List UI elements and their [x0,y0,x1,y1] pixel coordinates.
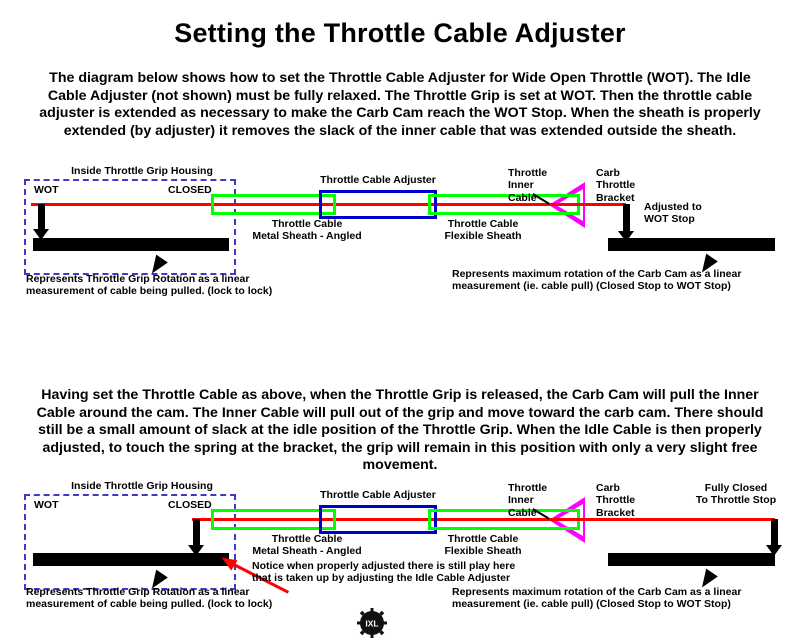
wot-stop-arrow-icon [618,204,634,242]
metal-sheath-label: Throttle Cable Metal Sheath - Angled [232,218,382,243]
closed-label: CLOSED [168,184,212,196]
fully-closed-label: Fully Closed To Throttle Stop [676,482,796,507]
inner-cable-line-to-stop [549,518,775,521]
second-paragraph: Having set the Throttle Cable as above, … [28,387,772,475]
closed-label-2: CLOSED [168,499,212,511]
metal-sheath-outline [211,194,336,215]
wot-label: WOT [34,184,59,196]
grip-rotation-bar [33,238,229,251]
grip-rotation-bar-2 [33,553,229,566]
carb-cam-rotation-bar [608,238,775,251]
grip-pull-arrow-icon [33,204,49,240]
intro-paragraph: The diagram below shows how to set the T… [28,70,772,140]
inner-cable-line-at-bracket [549,203,626,206]
wot-stop-label: Adjusted to WOT Stop [644,201,702,226]
carb-cam-rotation-bar-2 [608,553,775,566]
metal-sheath-outline-2 [211,509,336,530]
throttle-stop-arrow-icon [766,519,782,556]
flexible-sheath-label: Throttle Cable Flexible Sheath [408,218,558,243]
metal-sheath-label-2: Throttle Cable Metal Sheath - Angled [232,533,382,558]
watermark-logo: IXL [357,608,387,638]
diagram-idle-released: Inside Throttle Grip Housing WOT CLOSED … [0,480,800,644]
wot-label-2: WOT [34,499,59,511]
notice-play-label: Notice when properly adjusted there is s… [252,560,515,585]
carb-bracket-label: Carb Throttle Bracket [596,167,635,204]
carb-bracket-label-2: Carb Throttle Bracket [596,482,635,519]
page-title: Setting the Throttle Cable Adjuster [0,18,800,49]
throttle-cable-adjuster-box [319,190,437,219]
watermark-text: IXL [365,619,378,629]
diagram-wot-setting: Inside Throttle Grip Housing WOT CLOSED … [0,160,800,310]
throttle-cable-adjuster-box-2 [319,505,437,534]
carb-cam-caption: Represents maximum rotation of the Carb … [452,268,741,293]
housing-label: Inside Throttle Grip Housing [24,165,260,177]
adjuster-label-2: Throttle Cable Adjuster [318,489,438,501]
adjuster-label: Throttle Cable Adjuster [318,174,438,186]
diagram-page: Setting the Throttle Cable Adjuster The … [0,0,800,644]
flexible-sheath-label-2: Throttle Cable Flexible Sheath [408,533,558,558]
carb-cam-caption-2: Represents maximum rotation of the Carb … [452,586,741,611]
grip-released-arrow-icon [188,519,204,556]
grip-rotation-caption-2: Represents Throttle Grip Rotation as a l… [26,586,272,611]
grip-rotation-caption: Represents Throttle Grip Rotation as a l… [26,273,272,298]
housing-label-2: Inside Throttle Grip Housing [24,480,260,492]
